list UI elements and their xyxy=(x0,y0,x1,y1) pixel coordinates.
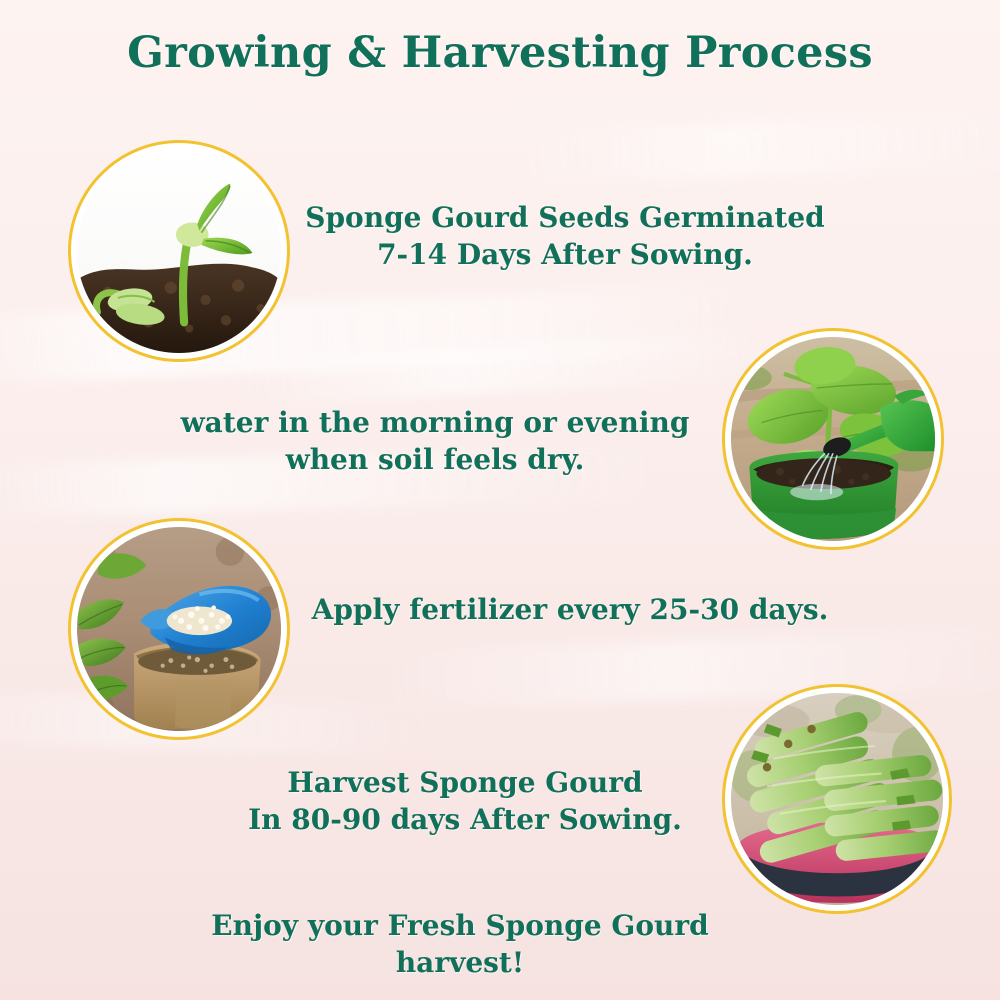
page-title: Growing & Harvesting Process xyxy=(0,30,1000,77)
step-fertilizing-image xyxy=(68,518,290,740)
step-harvest-text: Harvest Sponge Gourd In 80-90 days After… xyxy=(150,765,780,839)
fertilizer-in-gloved-hand-photo xyxy=(77,527,281,731)
step-harvest-line1: Harvest Sponge Gourd xyxy=(150,765,780,802)
step-fertilizing-line1: Apply fertilizer every 25-30 days. xyxy=(250,592,890,629)
watering-plant-in-grow-bag-photo xyxy=(731,337,935,541)
step-watering-text: water in the morning or evening when soi… xyxy=(120,405,750,479)
step-harvest-image xyxy=(722,684,952,914)
infographic-canvas: Growing & Harvesting Process xyxy=(0,0,1000,1000)
closing-line1: Enjoy your Fresh Sponge Gourd xyxy=(140,908,780,945)
closing-text: Enjoy your Fresh Sponge Gourd harvest! xyxy=(140,908,780,982)
step-germination-line1: Sponge Gourd Seeds Germinated xyxy=(250,200,880,237)
background-brush-stroke xyxy=(229,330,791,407)
background-brush-stroke xyxy=(519,111,1000,184)
step-fertilizing-text: Apply fertilizer every 25-30 days. xyxy=(250,592,890,629)
step-germination-line2: 7-14 Days After Sowing. xyxy=(250,237,880,274)
background-brush-stroke xyxy=(379,629,1000,711)
step-harvest-line2: In 80-90 days After Sowing. xyxy=(150,802,780,839)
closing-line2: harvest! xyxy=(140,945,780,982)
harvested-sponge-gourds-photo xyxy=(731,693,943,905)
step-watering-line1: water in the morning or evening xyxy=(120,405,750,442)
step-germination-text: Sponge Gourd Seeds Germinated 7-14 Days … xyxy=(250,200,880,274)
step-watering-line2: when soil feels dry. xyxy=(120,442,750,479)
step-watering-image xyxy=(722,328,944,550)
